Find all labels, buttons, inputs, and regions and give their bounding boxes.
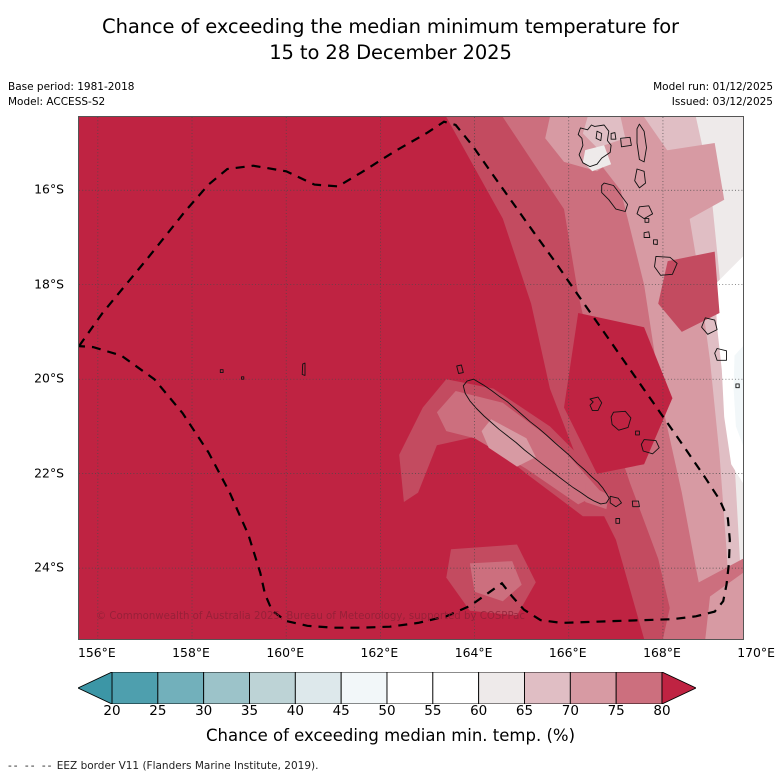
colorbar-extend-high [662,672,696,704]
y-tick-label: 20°S [34,371,64,386]
base-period-label: Base period: 1981-2018 [8,80,134,95]
colorbar-band [570,672,616,704]
forecast-map-page: Chance of exceeding the median minimum t… [0,0,781,781]
y-tick-label: 22°S [34,465,64,480]
colorbar-band [250,672,296,704]
x-tick-label: 160°E [266,645,304,660]
y-tick-label: 16°S [34,182,64,197]
y-tick-label: 18°S [34,276,64,291]
colorbar-tick-label: 50 [378,703,395,719]
colorbar-tick-label: 35 [241,703,258,719]
colorbar-band [341,672,387,704]
eez-footnote: -- -- -- EEZ border V11 (Flanders Marine… [8,760,318,772]
x-tick-label: 164°E [455,645,493,660]
eez-footnote-text: EEZ border V11 (Flanders Marine Institut… [57,760,319,772]
colorbar-band [112,672,158,704]
colorbar-band [158,672,204,704]
colorbar-tick-label: 40 [287,703,304,719]
colorbar-title: Chance of exceeding median min. temp. (%… [0,726,781,745]
colorbar-band [295,672,341,704]
colorbar-tick-label: 45 [333,703,350,719]
meta-left-block: Base period: 1981-2018 Model: ACCESS-S2 [8,80,134,110]
page-title: Chance of exceeding the median minimum t… [0,14,781,65]
colorbar-band [204,672,250,704]
colorbar-band [525,672,571,704]
colorbar-tick-label: 75 [608,703,625,719]
colorbar-band [616,672,662,704]
colorbar-band [433,672,479,704]
meta-right-block: Model run: 01/12/2025 Issued: 03/12/2025 [653,80,773,110]
issued-label: Issued: 03/12/2025 [653,95,773,110]
x-tick-label: 170°E [737,645,775,660]
colorbar-band [387,672,433,704]
x-tick-label: 158°E [172,645,210,660]
eez-dash-swatch: -- -- -- [8,760,53,772]
x-tick-label: 162°E [361,645,399,660]
x-tick-label: 156°E [78,645,116,660]
colorbar-tick-label: 65 [516,703,533,719]
colorbar-tick-label: 20 [103,703,120,719]
y-tick-label: 24°S [34,560,64,575]
model-run-label: Model run: 01/12/2025 [653,80,773,95]
colorbar-extend-low [78,672,112,704]
colorbar-tick-label: 60 [470,703,487,719]
colorbar-tick-label: 70 [562,703,579,719]
colorbar-band [479,672,525,704]
colorbar-tick-labels: 20253035404550556065707580 [0,703,781,723]
x-tick-label: 166°E [549,645,587,660]
x-tick-label: 168°E [643,645,681,660]
colorbar-tick-label: 25 [149,703,166,719]
colorbar[interactable] [78,672,696,704]
colorbar-svg [78,672,696,704]
model-label: Model: ACCESS-S2 [8,95,134,110]
map-canvas[interactable] [78,116,744,640]
map-svg [79,117,743,639]
colorbar-tick-label: 30 [195,703,212,719]
colorbar-tick-label: 80 [653,703,670,719]
colorbar-tick-label: 55 [424,703,441,719]
